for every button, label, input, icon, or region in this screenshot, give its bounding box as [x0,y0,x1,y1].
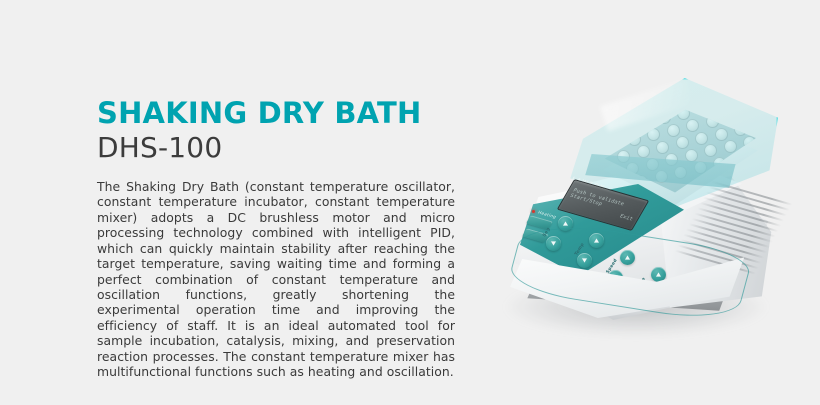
text-column: SHAKING DRY BATH DHS-100 The Shaking Dry… [97,97,457,379]
product-image: LAWSON Push to validate Start/Stop Exit … [470,58,820,378]
model-number: DHS-100 [97,131,457,165]
page-title: SHAKING DRY BATH [97,97,457,129]
up-arrow-icon [562,220,569,227]
product-description: The Shaking Dry Bath (constant temperatu… [97,179,455,379]
shaking-dry-bath-device: LAWSON Push to validate Start/Stop Exit … [470,58,820,378]
product-banner: SHAKING DRY BATH DHS-100 The Shaking Dry… [0,0,820,405]
keypad: SegTempSpeedTime [470,58,820,378]
